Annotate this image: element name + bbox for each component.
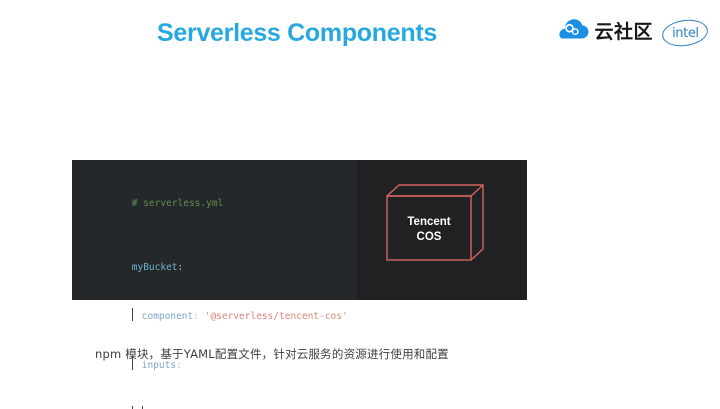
cube-label: Tencent COS [387, 215, 471, 245]
code-line-component: component: '@serverless/tencent-cos' [86, 292, 357, 341]
cloud-community-logo: 云社区 [559, 19, 653, 46]
caption-text: npm 模块，基于YAML配置文件，针对云服务的资源进行使用和配置 [95, 346, 449, 362]
code-line-mybucket: myBucket: [86, 244, 357, 292]
intel-logo: intel [660, 16, 709, 48]
diagram-area: Tencent COS [357, 160, 527, 300]
code-line-blank [86, 228, 357, 244]
yaml-code-block: # serverless.yml myBucket: component: '@… [72, 160, 357, 300]
code-line-bucket: bucket: my-bucket [86, 390, 357, 409]
cloud-community-label: 云社区 [594, 23, 653, 42]
branding-bar: 云社区 intel [559, 19, 708, 46]
code-line-comment: # serverless.yml [86, 180, 357, 228]
slide-root: Serverless Components 云社区 intel # server [0, 0, 720, 409]
cloud-icon [559, 19, 589, 46]
page-title: Serverless Components [0, 19, 594, 48]
tencent-cos-cube: Tencent COS [387, 185, 483, 271]
cube-label-line1: Tencent [387, 215, 471, 230]
indent-guide [132, 308, 133, 321]
intel-logo-label: intel [672, 26, 699, 39]
cube-label-line2: COS [387, 230, 471, 245]
code-diagram-panel: # serverless.yml myBucket: component: '@… [72, 160, 527, 300]
